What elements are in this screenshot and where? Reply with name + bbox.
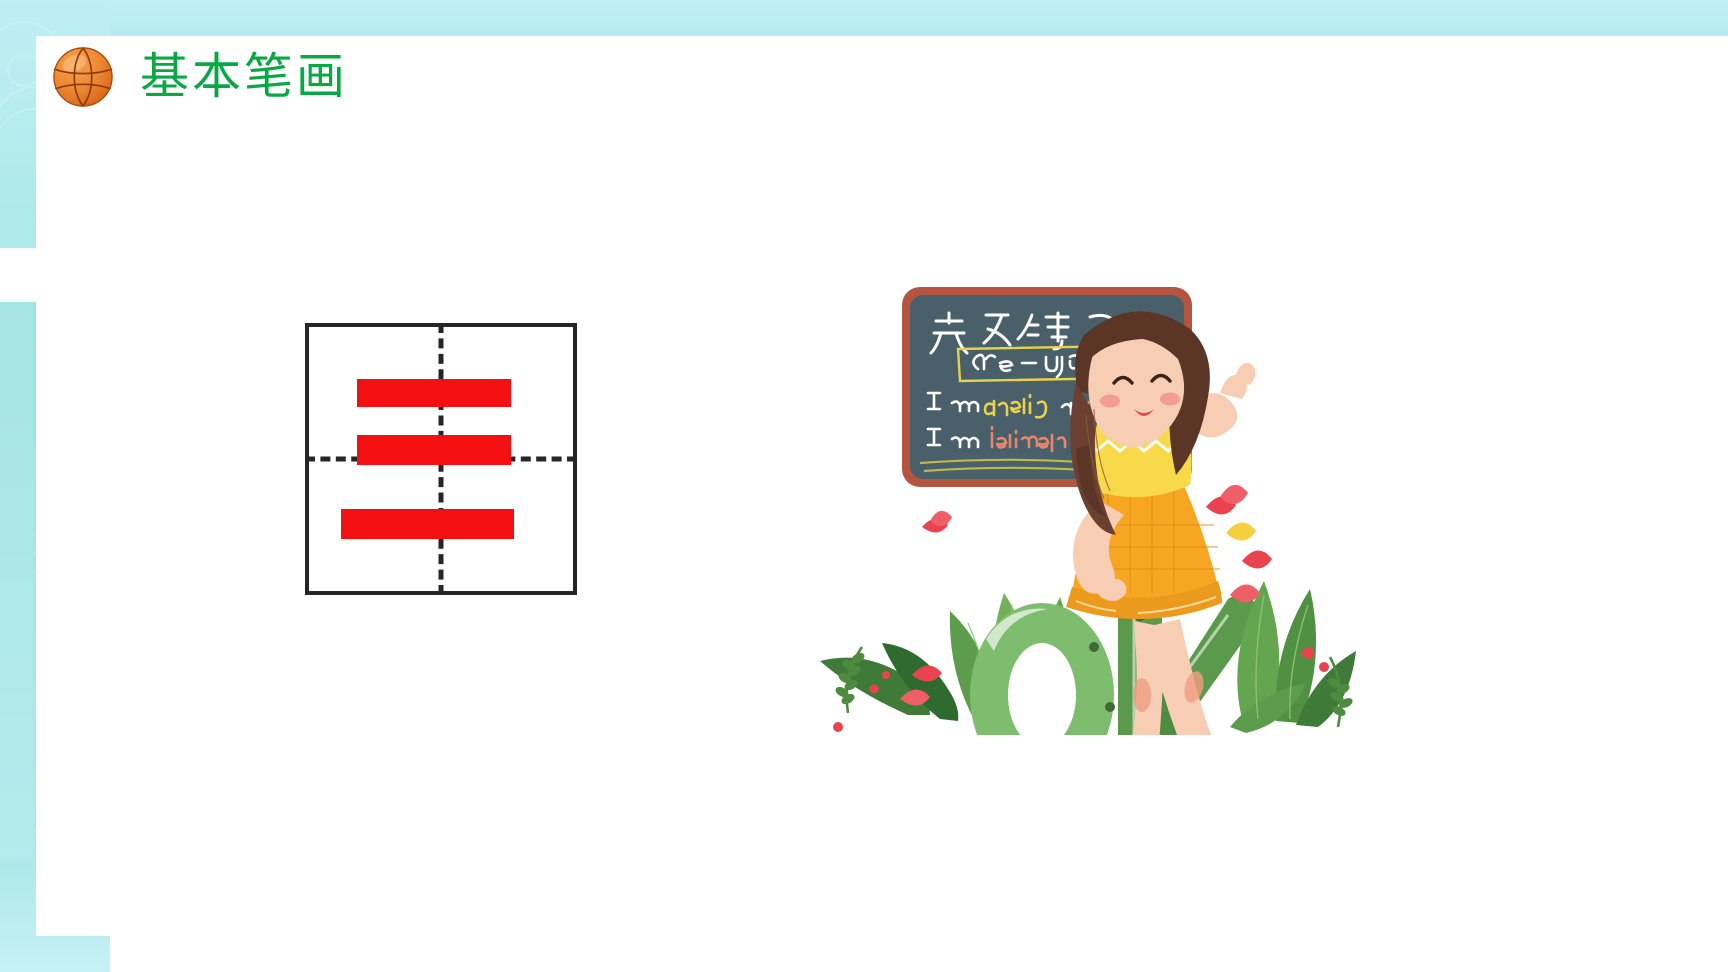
tianzige-grid — [305, 323, 577, 595]
illustration-svg — [790, 275, 1370, 735]
cheek-left — [1100, 395, 1120, 408]
stroke-heng-2 — [357, 435, 511, 465]
girl-at-blackboard-illustration — [790, 275, 1370, 735]
slide-header: 基本笔画 — [52, 46, 348, 108]
stroke-heng-1 — [357, 379, 511, 407]
decor-band-top — [0, 0, 1728, 36]
page-title: 基本笔画 — [140, 53, 348, 102]
stroke-heng-3 — [341, 509, 514, 539]
berry — [882, 671, 890, 679]
cheek-right — [1160, 393, 1180, 406]
slide-canvas: 基本笔画 — [0, 0, 1728, 972]
basketball-icon — [52, 46, 114, 108]
berry — [870, 685, 879, 694]
berry — [833, 722, 843, 732]
